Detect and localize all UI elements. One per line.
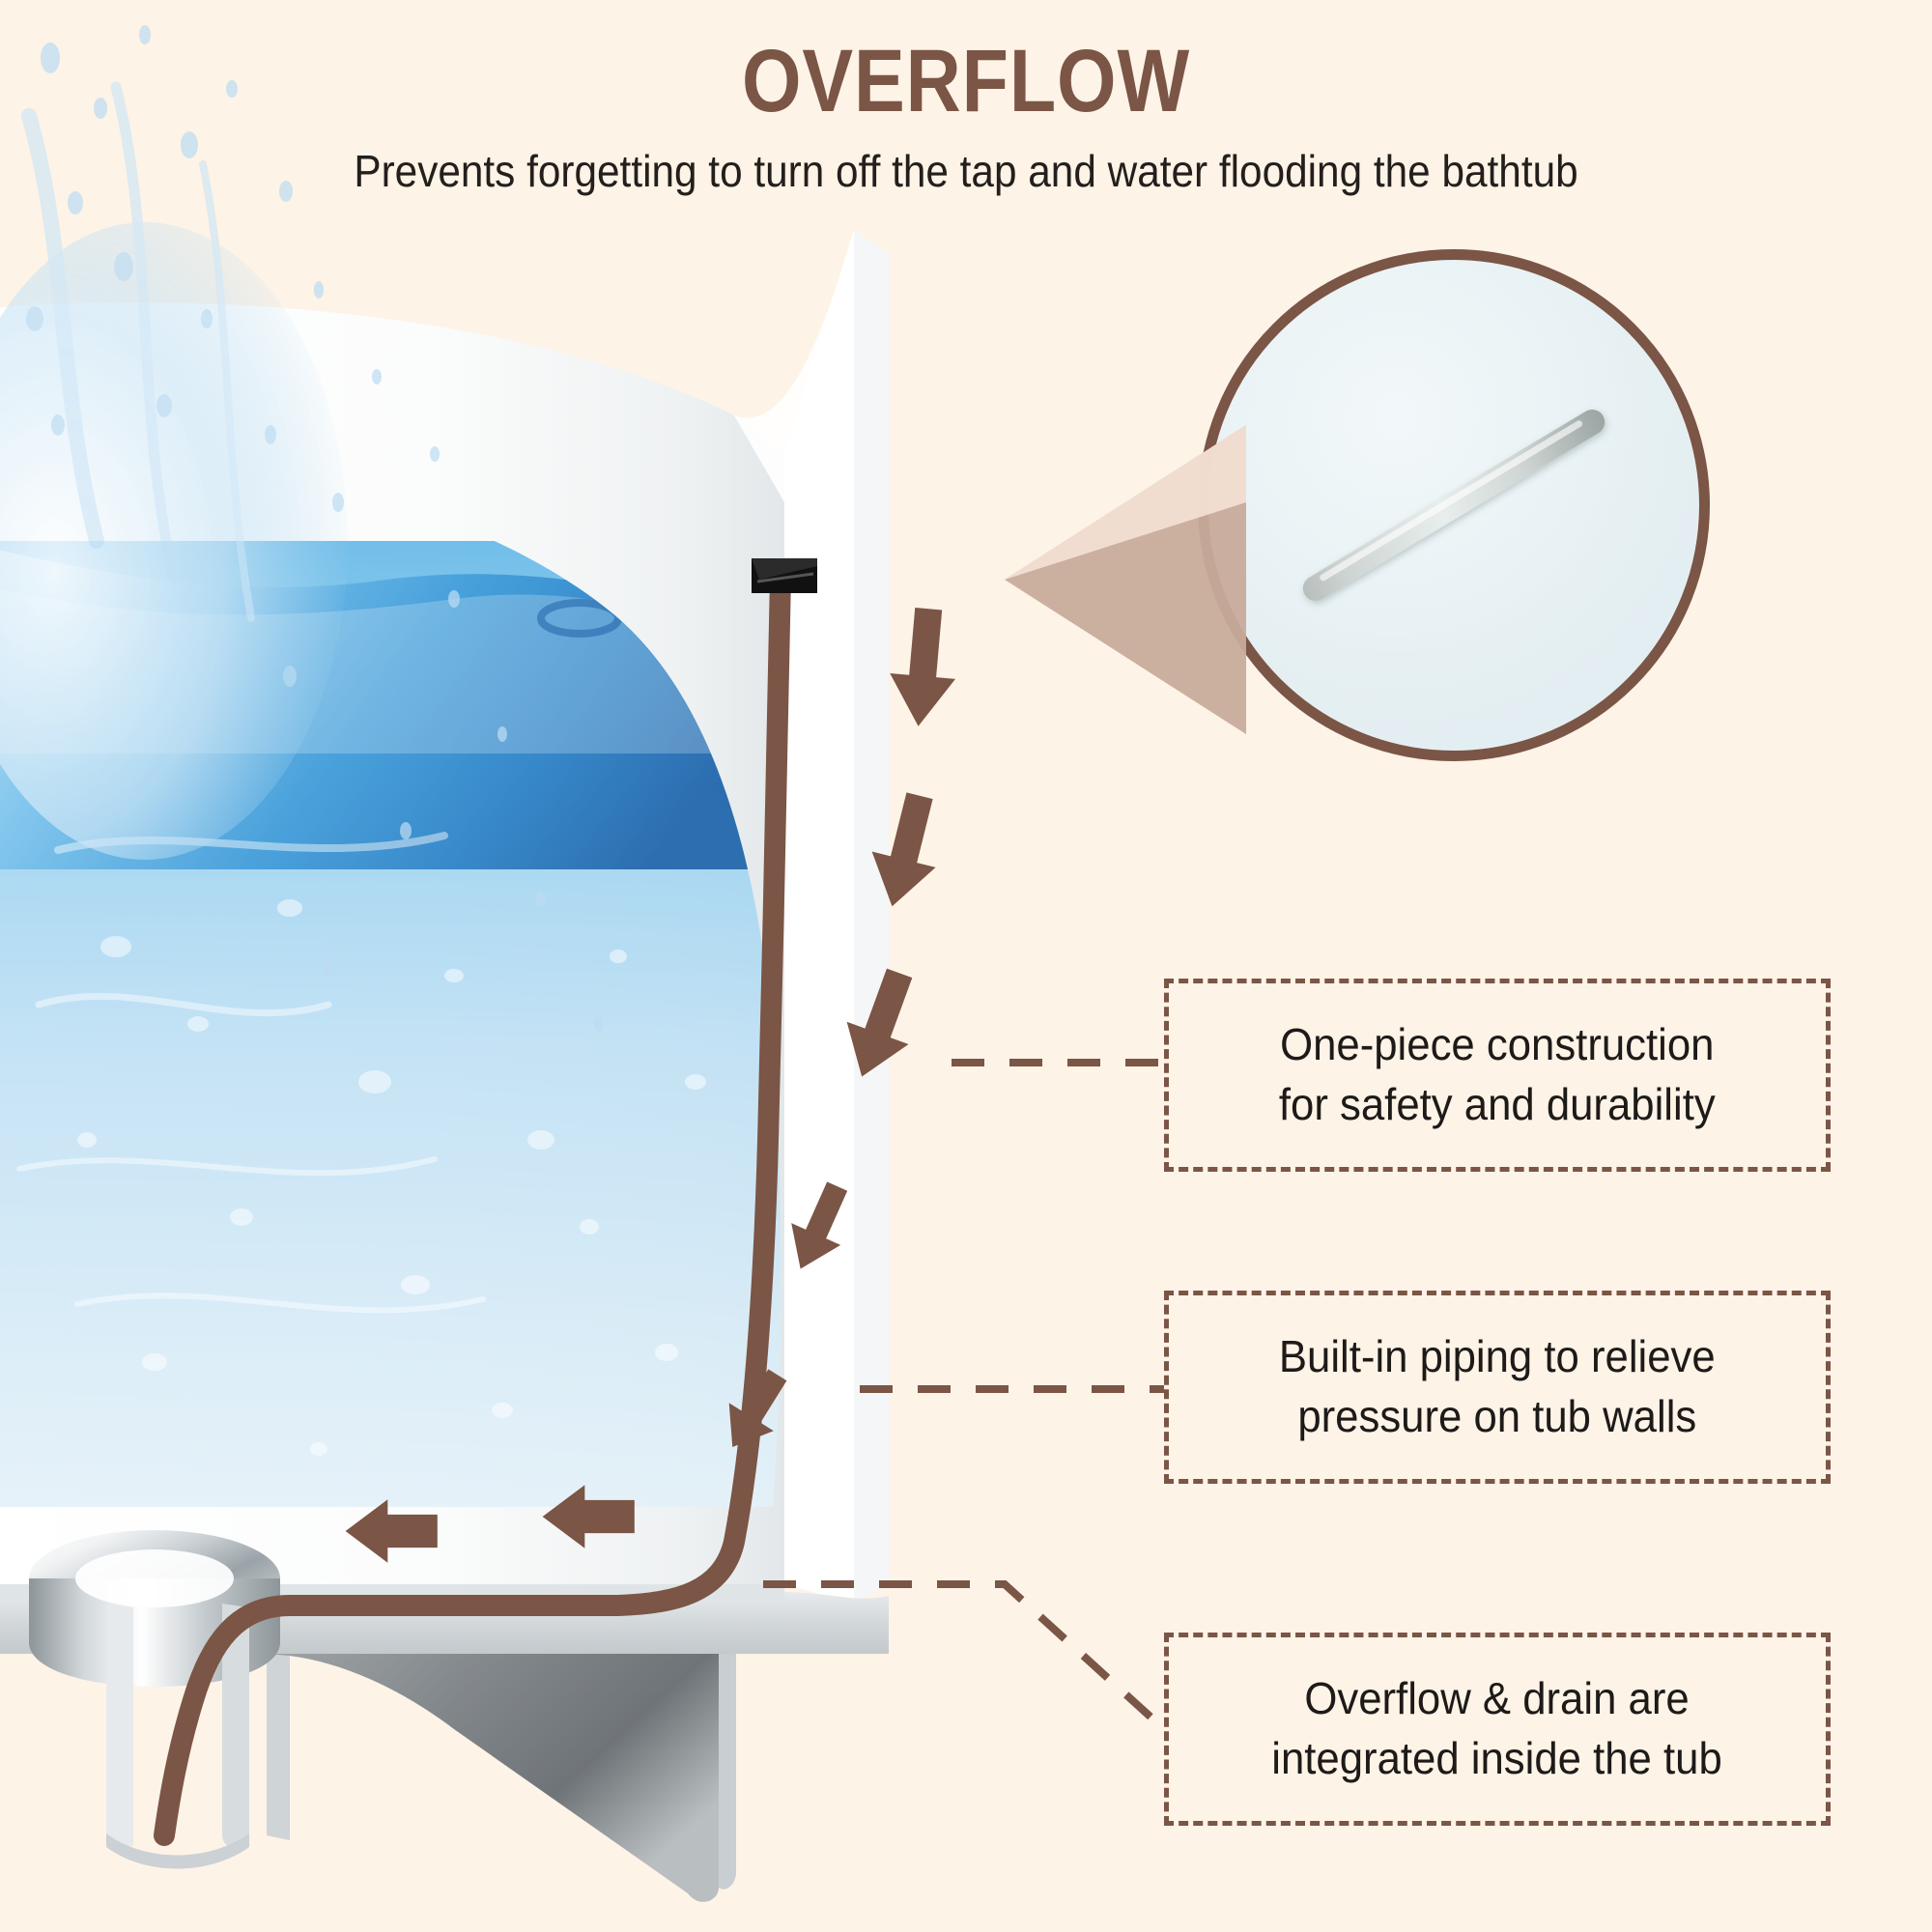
- callout-box-overflow-drain-integrated: Overflow & drain are integrated inside t…: [1164, 1633, 1831, 1826]
- callout-line-2: integrated inside the tub: [1272, 1733, 1722, 1783]
- callout-text: One-piece construction for safety and du…: [1279, 1015, 1716, 1134]
- callout-line-1: Built-in piping to relieve: [1279, 1331, 1716, 1381]
- callout-line-1: One-piece construction: [1280, 1019, 1714, 1069]
- overflow-slot-closeup-icon: [1298, 405, 1609, 606]
- overflow-slot: [752, 558, 817, 593]
- header: OVERFLOW Prevents forgetting to turn off…: [0, 0, 1932, 196]
- callout-line-2: for safety and durability: [1279, 1079, 1716, 1129]
- page-subtitle: Prevents forgetting to turn off the tap …: [77, 126, 1855, 196]
- drain-fitting: [29, 1530, 280, 1869]
- callout-text: Overflow & drain are integrated inside t…: [1272, 1669, 1722, 1788]
- magnifier-circle: [1198, 249, 1710, 761]
- callout-line-2: pressure on tub walls: [1298, 1391, 1697, 1441]
- bathtub-scene: [0, 0, 1092, 1932]
- tub-underside: [267, 1654, 736, 1902]
- callout-box-one-piece-construction: One-piece construction for safety and du…: [1164, 979, 1831, 1172]
- callout-text: Built-in piping to relieve pressure on t…: [1279, 1327, 1716, 1446]
- infographic-canvas: OVERFLOW Prevents forgetting to turn off…: [0, 0, 1932, 1932]
- callout-box-built-in-piping: Built-in piping to relieve pressure on t…: [1164, 1291, 1831, 1484]
- callout-line-1: Overflow & drain are: [1305, 1673, 1690, 1723]
- page-title: OVERFLOW: [135, 0, 1797, 126]
